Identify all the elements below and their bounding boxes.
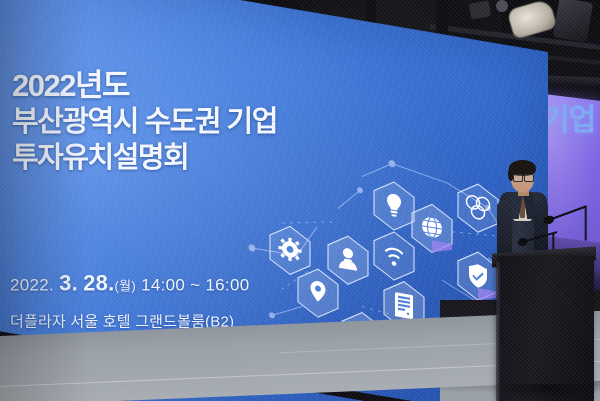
stage-light-housing-icon	[553, 0, 593, 43]
conference-stage-photo: 기업	[0, 0, 600, 401]
stage-light-left-icon	[496, 0, 508, 12]
lens-right	[524, 174, 534, 182]
eyeglasses-icon	[513, 174, 533, 180]
podium-floor-shadow	[492, 384, 600, 401]
mic-2-stem	[585, 207, 587, 241]
side-panel-word: 기업	[542, 105, 598, 137]
speaker-podium	[498, 256, 594, 401]
lens-left	[513, 174, 523, 182]
truss-spot-icon	[469, 0, 491, 19]
podium-left-edge	[496, 262, 500, 401]
